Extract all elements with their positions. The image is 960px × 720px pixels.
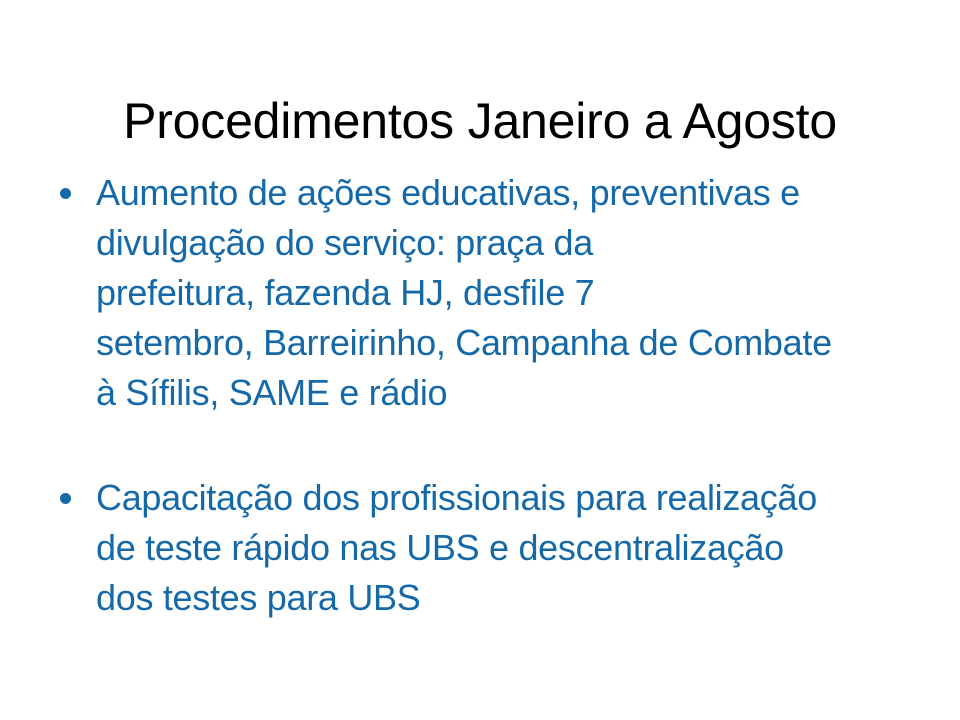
list-item-text: Capacitação dos profissionais para reali… bbox=[96, 473, 928, 623]
text-line: Aumento de ações educativas, preventivas… bbox=[96, 168, 928, 218]
list-item: Aumento de ações educativas, preventivas… bbox=[48, 168, 928, 418]
text-line: à Sífilis, SAME e rádio bbox=[96, 368, 928, 418]
text-line: setembro, Barreirinho, Campanha de Comba… bbox=[96, 318, 928, 368]
bullet-dot-icon bbox=[60, 188, 71, 199]
list-item-text: Aumento de ações educativas, preventivas… bbox=[96, 168, 928, 418]
text-line: divulgação do serviço: praça da bbox=[96, 218, 928, 268]
page-title: Procedimentos Janeiro a Agosto bbox=[60, 92, 900, 150]
text-line: de teste rápido nas UBS e descentralizaç… bbox=[96, 523, 928, 573]
text-line: prefeitura, fazenda HJ, desfile 7 bbox=[96, 268, 928, 318]
presentation-slide: Procedimentos Janeiro a Agosto Aumento d… bbox=[0, 0, 960, 720]
text-line: dos testes para UBS bbox=[96, 573, 928, 623]
bullet-dot-icon bbox=[60, 493, 71, 504]
text-line: Capacitação dos profissionais para reali… bbox=[96, 473, 928, 523]
list-item: Capacitação dos profissionais para reali… bbox=[48, 473, 928, 623]
bullet-list: Aumento de ações educativas, preventivas… bbox=[48, 168, 928, 623]
